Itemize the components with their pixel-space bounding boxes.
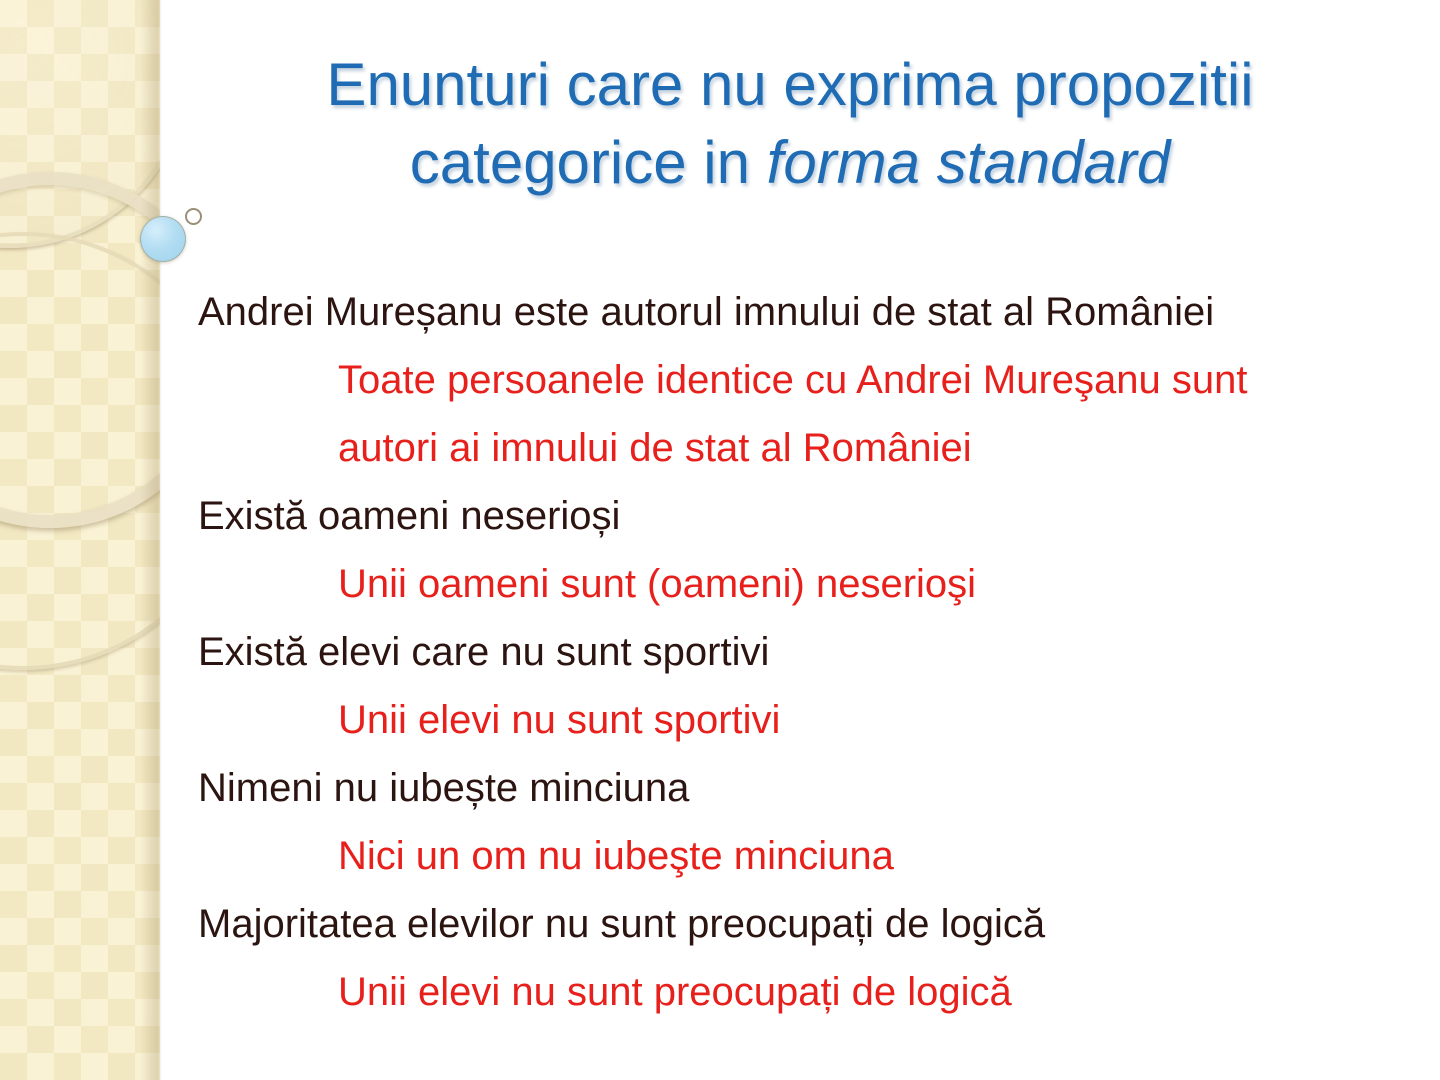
example-block: Există oameni neserioși Unii oameni sunt… xyxy=(198,482,1423,618)
standard-form-text: Unii elevi nu sunt preocupați de logică xyxy=(338,958,1348,1026)
statement-text: Majoritatea elevilor nu sunt preocupați … xyxy=(198,890,1423,958)
statement-text: Andrei Mureșanu este autorul imnului de … xyxy=(198,278,1423,346)
statement-text: Nimeni nu iubește minciuna xyxy=(198,754,1423,822)
statement-text: Există oameni neserioși xyxy=(198,482,1423,550)
slide-title-line-2-italic: forma standard xyxy=(767,129,1171,196)
accent-bubble-icon xyxy=(140,216,186,262)
standard-form-text: Nici un om nu iubeşte minciuna xyxy=(338,822,1348,890)
slide-title-line-2-plain: categorice in xyxy=(410,129,767,196)
standard-form-text: Unii elevi nu sunt sportivi xyxy=(338,686,1348,754)
standard-form-text: Toate persoanele identice cu Andrei Mure… xyxy=(338,346,1348,482)
slide-body: Andrei Mureșanu este autorul imnului de … xyxy=(198,278,1423,1026)
slide-title: Enunturi care nu exprima propozitii cate… xyxy=(185,46,1395,202)
accent-ring-icon xyxy=(185,208,202,225)
standard-form-text: Unii oameni sunt (oameni) neserioşi xyxy=(338,550,1348,618)
slide-title-line-1: Enunturi care nu exprima propozitii xyxy=(326,51,1253,118)
example-block: Există elevi care nu sunt sportivi Unii … xyxy=(198,618,1423,754)
ring-thin-bottom-icon xyxy=(0,232,160,670)
decorative-sidebar xyxy=(0,0,160,1080)
example-block: Nimeni nu iubește minciuna Nici un om nu… xyxy=(198,754,1423,890)
example-block: Andrei Mureșanu este autorul imnului de … xyxy=(198,278,1423,482)
example-block: Majoritatea elevilor nu sunt preocupați … xyxy=(198,890,1423,1026)
statement-text: Există elevi care nu sunt sportivi xyxy=(198,618,1423,686)
presentation-slide: Enunturi care nu exprima propozitii cate… xyxy=(0,0,1440,1080)
sidebar-edge-shadow xyxy=(140,0,162,1080)
